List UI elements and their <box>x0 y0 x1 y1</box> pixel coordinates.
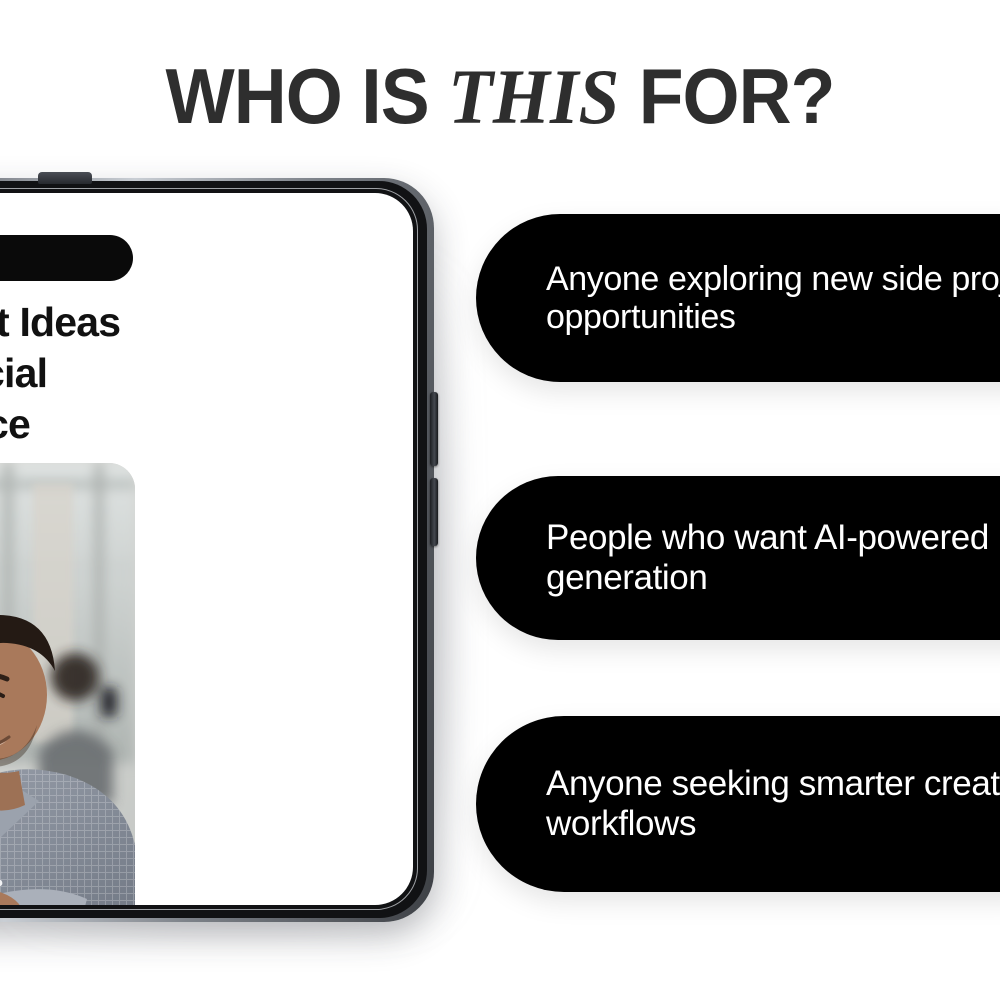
page-title-part1: WHO IS <box>165 52 448 140</box>
device-screen[interactable]: nlocking Project Ideas With Artificial I… <box>0 193 413 905</box>
audience-pill-2-label: People who want AI-powered idea generati… <box>476 518 1000 598</box>
slide-canvas: WHO IS THIS FOR? nlocking Project Ideas … <box>0 0 1000 1000</box>
page-title-emphasis: THIS <box>448 53 619 140</box>
screen-photo <box>0 463 135 905</box>
audience-pill-3-label: Anyone seeking smarter creative workflow… <box>476 764 1000 844</box>
screen-topbar-banner <box>0 235 133 281</box>
device-antenna-nub <box>38 172 92 184</box>
screen-headline-line2: With Artificial <box>0 348 137 399</box>
screen-headline-line1: Project Ideas <box>0 299 120 345</box>
screen-headline: nlocking Project Ideas With Artificial I… <box>0 297 137 450</box>
page-title-part2: FOR? <box>619 52 834 140</box>
volume-up-button[interactable] <box>430 392 438 466</box>
audience-pill-1[interactable]: Anyone exploring new side project opport… <box>476 214 1000 382</box>
screen-headline-line3: Intelligence <box>0 399 137 450</box>
volume-down-button[interactable] <box>430 478 438 546</box>
tablet-device-mockup: nlocking Project Ideas With Artificial I… <box>0 178 434 922</box>
audience-pill-3[interactable]: Anyone seeking smarter creative workflow… <box>476 716 1000 892</box>
audience-pill-2[interactable]: People who want AI-powered idea generati… <box>476 476 1000 640</box>
audience-pill-1-label: Anyone exploring new side project opport… <box>476 260 1000 336</box>
page-title: WHO IS THIS FOR? <box>30 52 970 141</box>
